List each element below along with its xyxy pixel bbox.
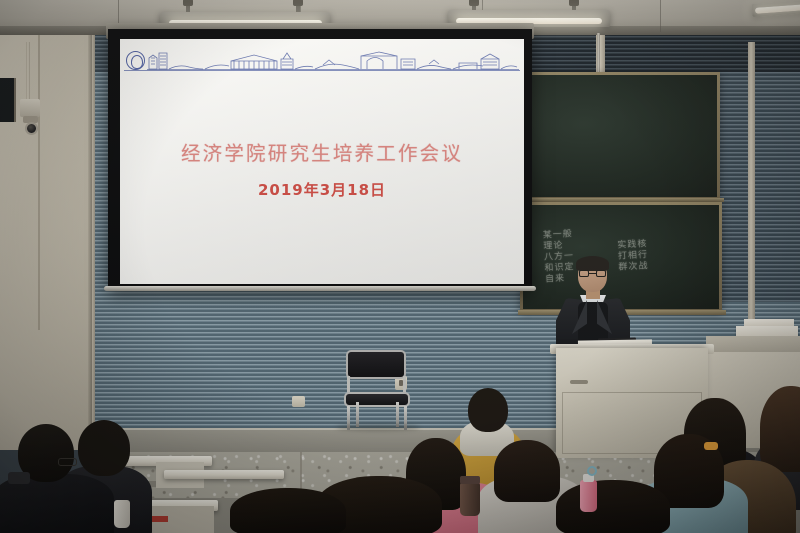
student-foreground-left-hair	[230, 488, 346, 533]
security-camera-icon	[25, 122, 38, 135]
projection-screen[interactable]: 经济学院研究生培养工作会议 2019年3月18日	[108, 29, 532, 291]
chair-leg-bl	[356, 402, 359, 427]
slide-header-band	[120, 48, 524, 72]
student-front-left-glasses-icon	[58, 458, 77, 466]
wall-monitor	[0, 78, 16, 122]
university-emblem-icon	[126, 51, 145, 70]
student-center-grey-hair	[494, 440, 560, 502]
speaker-hair	[576, 256, 609, 271]
campus-skyline-lineart-icon	[147, 50, 519, 71]
bottle-strap	[587, 466, 597, 476]
slide-header-rule	[124, 70, 520, 71]
camera-conduit	[26, 42, 30, 100]
thermos-brown[interactable]	[460, 482, 480, 516]
speaker-glasses-icon	[579, 270, 606, 277]
blackboard-upper	[524, 72, 720, 200]
chair-backrest	[346, 350, 406, 379]
student-foreground-right-hair	[556, 480, 670, 533]
wall-outlet-left[interactable]	[292, 396, 305, 407]
desk-center	[164, 470, 284, 479]
light-tube-far-right	[755, 4, 800, 14]
thermos-brown-cap	[460, 476, 480, 484]
chair-shadow	[336, 424, 420, 431]
slide-date: 2019年3月18日	[120, 179, 524, 200]
chair-leg-br	[396, 402, 399, 427]
water-bottle-pink[interactable]	[580, 480, 597, 512]
wall-post-right	[748, 42, 755, 332]
slide-title: 经济学院研究生培养工作会议	[120, 137, 524, 166]
student-front-left-collar	[8, 472, 30, 484]
student-foreground-left	[230, 488, 350, 533]
lecture-hall-photo: 某一般 理论 八方一 和识定 自来 实践核 打相行 群次战	[0, 0, 800, 533]
podium-handle[interactable]	[570, 380, 588, 384]
screen-weight-bar	[104, 286, 536, 291]
slide-surface: 经济学院研究生培养工作会议 2019年3月18日	[120, 39, 524, 284]
student-foreground-right	[556, 480, 674, 533]
ceiling-seam-4	[660, 0, 661, 32]
student-hood-yellow-head	[468, 388, 508, 432]
chair-seat	[344, 392, 410, 407]
camera-housing	[20, 99, 40, 117]
left-wall-seam	[38, 30, 40, 330]
hair-clip-accent	[704, 442, 718, 450]
blackboard-upper-surface	[527, 75, 717, 197]
student-front-left	[0, 424, 112, 533]
empty-chair[interactable]	[342, 350, 414, 430]
cup-white[interactable]	[114, 500, 130, 528]
